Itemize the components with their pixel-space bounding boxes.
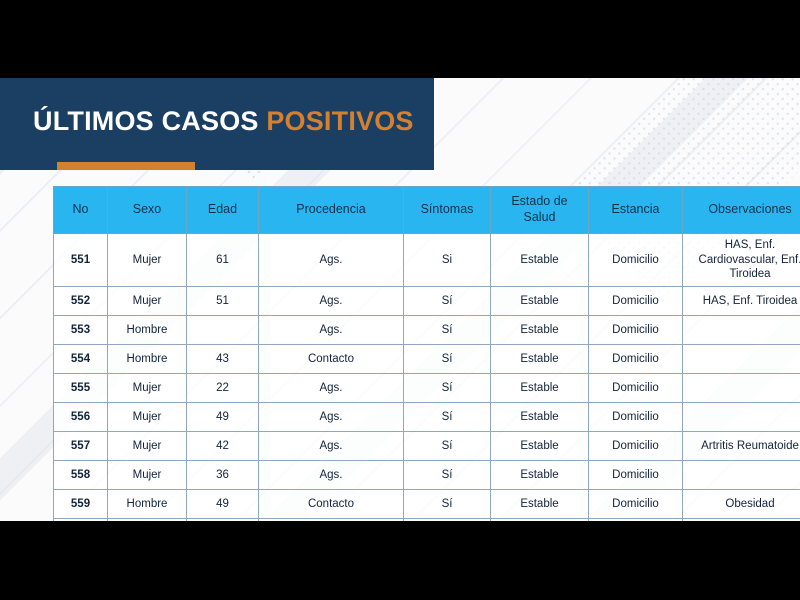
cell-sintomas: Sí [404,490,491,519]
cell-estado-salud: Estable [491,461,589,490]
cell-estancia: Domicilio [589,461,683,490]
cell-estancia: Domicilio [589,432,683,461]
cell-no: 556 [54,403,108,432]
table-row: 553HombreAgs.SíEstableDomicilio [54,316,800,345]
page-title-main: ÚLTIMOS CASOS [33,106,266,136]
cell-sintomas: Sí [404,345,491,374]
cell-edad: 61 [187,234,259,287]
column-header-sintomas: Síntomas [404,187,491,234]
cell-estado-salud: Estable [491,403,589,432]
cell-sintomas: Sí [404,403,491,432]
cell-sexo: Mujer [108,432,187,461]
cell-observaciones: HAS, Enf. Cardiovascular, Enf. Tiroidea [683,234,800,287]
cell-procedencia: Ags. [259,432,404,461]
cell-no: 551 [54,234,108,287]
cell-observaciones: HAS, Enf. Tiroidea [683,287,800,316]
table-row: 551Mujer61Ags.SiEstableDomicilioHAS, Enf… [54,234,800,287]
cell-no: 555 [54,374,108,403]
cell-sexo: Hombre [108,490,187,519]
cell-edad: 49 [187,490,259,519]
cell-procedencia: Ags. [259,374,404,403]
cell-estancia: Domicilio [589,287,683,316]
slide-canvas: ÚLTIMOS CASOS POSITIVOS No Sexo Edad Pro… [0,78,800,521]
column-header-observaciones: Observaciones [683,187,800,234]
cell-edad: 36 [187,461,259,490]
cell-estado-salud: Estable [491,234,589,287]
table-row: 559Hombre49ContactoSíEstableDomicilioObe… [54,490,800,519]
cell-sexo: Mujer [108,287,187,316]
cell-estancia: Domicilio [589,234,683,287]
cell-edad: 43 [187,345,259,374]
cell-estancia: Domicilio [589,403,683,432]
cell-procedencia: Ags. [259,287,404,316]
cell-no: 552 [54,287,108,316]
cell-estado-salud: Estable [491,490,589,519]
cell-estado-salud: Estable [491,345,589,374]
cell-sexo: Mujer [108,374,187,403]
page-title-accent: POSITIVOS [266,106,413,136]
cell-estancia: Domicilio [589,490,683,519]
cell-edad: 42 [187,432,259,461]
cell-no: 557 [54,432,108,461]
cell-estancia: Domicilio [589,345,683,374]
cell-edad: 51 [187,287,259,316]
column-header-procedencia: Procedencia [259,187,404,234]
cell-estado-salud: Estable [491,374,589,403]
cell-observaciones [683,403,800,432]
cell-edad: 49 [187,403,259,432]
letterbox-bar-top [0,0,800,78]
title-underline-accent [57,162,195,170]
cell-estado-salud: Estable [491,432,589,461]
cases-table: No Sexo Edad Procedencia Síntomas Estado… [53,186,800,521]
letterbox-bar-bottom [0,521,800,600]
cell-procedencia: Contacto [259,490,404,519]
cell-no: 554 [54,345,108,374]
cases-table-container: No Sexo Edad Procedencia Síntomas Estado… [53,186,761,521]
cell-estancia: Domicilio [589,316,683,345]
cell-observaciones [683,316,800,345]
table-row: 555Mujer22Ags.SíEstableDomicilio [54,374,800,403]
cell-estado-salud: Estable [491,287,589,316]
cell-sintomas: Sí [404,287,491,316]
cell-sexo: Hombre [108,316,187,345]
cell-sintomas: Sí [404,316,491,345]
cell-estado-salud: Estable [491,316,589,345]
cell-no: 558 [54,461,108,490]
cell-procedencia: Ags. [259,461,404,490]
cell-procedencia: Ags. [259,316,404,345]
column-header-sexo: Sexo [108,187,187,234]
cell-sexo: Mujer [108,403,187,432]
table-row: 557Mujer42Ags.SíEstableDomicilioArtritis… [54,432,800,461]
table-row: 558Mujer36Ags.SíEstableDomicilio [54,461,800,490]
table-row: 554Hombre43ContactoSíEstableDomicilio [54,345,800,374]
title-band: ÚLTIMOS CASOS POSITIVOS [0,78,434,170]
cell-estancia: Domicilio [589,374,683,403]
column-header-estancia: Estancia [589,187,683,234]
column-header-edad: Edad [187,187,259,234]
cell-sexo: Mujer [108,234,187,287]
table-head: No Sexo Edad Procedencia Síntomas Estado… [54,187,800,234]
cell-observaciones [683,345,800,374]
table-body: 551Mujer61Ags.SiEstableDomicilioHAS, Enf… [54,234,800,522]
cell-sintomas: Si [404,234,491,287]
cell-sexo: Hombre [108,345,187,374]
cell-sintomas: Sí [404,432,491,461]
cell-edad [187,316,259,345]
table-row: 556Mujer49Ags.SíEstableDomicilio [54,403,800,432]
cell-edad: 22 [187,374,259,403]
cell-no: 553 [54,316,108,345]
cell-sexo: Mujer [108,461,187,490]
cell-no: 559 [54,490,108,519]
cell-observaciones [683,374,800,403]
cell-observaciones: Obesidad [683,490,800,519]
cell-observaciones: Artritis Reumatoide [683,432,800,461]
table-header-row: No Sexo Edad Procedencia Síntomas Estado… [54,187,800,234]
cell-sintomas: Sí [404,374,491,403]
cell-sintomas: Sí [404,461,491,490]
cell-procedencia: Ags. [259,234,404,287]
cell-procedencia: Ags. [259,403,404,432]
page-title: ÚLTIMOS CASOS POSITIVOS [33,106,414,137]
slide-stage: ÚLTIMOS CASOS POSITIVOS No Sexo Edad Pro… [0,0,800,600]
cell-procedencia: Contacto [259,345,404,374]
column-header-no: No [54,187,108,234]
cell-observaciones [683,461,800,490]
table-row: 552Mujer51Ags.SíEstableDomicilioHAS, Enf… [54,287,800,316]
column-header-estado-salud: Estado de Salud [491,187,589,234]
